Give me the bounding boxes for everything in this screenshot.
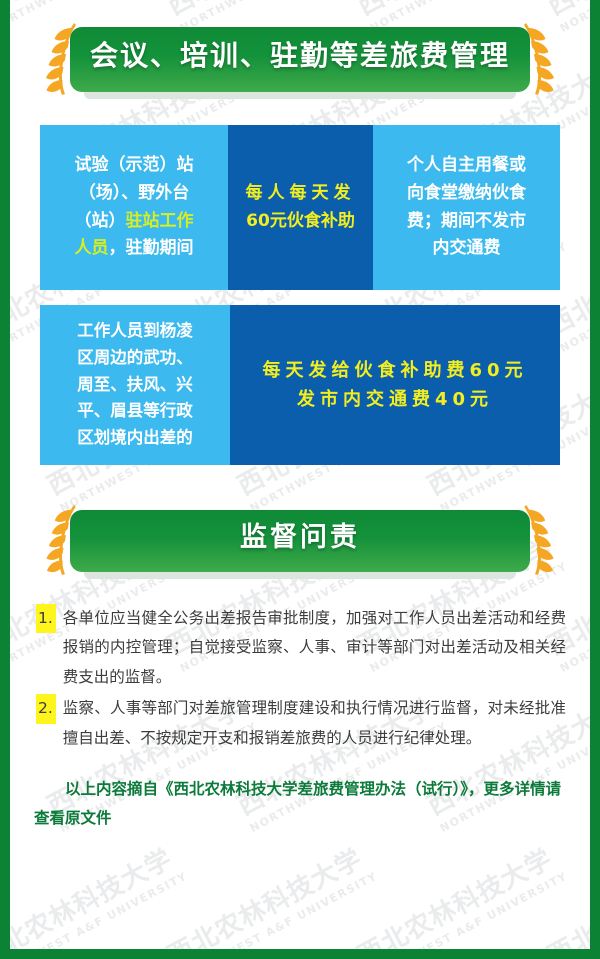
list-item-number: 1. — [36, 604, 56, 633]
watermark-text: 西北农林科技大学NORTHWEST A&F UNIVERSITY — [540, 836, 590, 949]
list-item: 1. 各单位应当健全公务出差报告审批制度，加强对工作人员出差活动和经费报销的内控… — [36, 604, 566, 692]
condition-line-4-highlight: 人员 — [75, 238, 109, 258]
wheat-stalk-icon-left — [44, 19, 86, 101]
allowance-table-two: 工作人员到杨凌 区周边的武功、 周至、扶风、兴 平、眉县等行政 区划境内出差的 … — [40, 305, 560, 465]
list-item-text: 各单位应当健全公务出差报告审批制度，加强对工作人员出差活动和经费报销的内控管理；… — [63, 604, 566, 692]
condition-line-3-prefix: （站） — [75, 211, 126, 231]
amount-line-1: 每人每天发 — [240, 180, 361, 208]
amount2-line-2: 发市内交通费40元 — [242, 385, 548, 414]
condition-line-4-suffix: ，驻勤期间 — [109, 238, 194, 258]
condition2-line-3: 周至、扶风、兴 — [52, 372, 218, 399]
amount2-line-1: 每天发给伙食补助费60元 — [242, 356, 548, 385]
note-line-1: 个人自主用餐或 — [385, 152, 548, 180]
note-line-2: 向食堂缴纳伙食 — [385, 180, 548, 208]
list-item-text: 监察、人事等部门对差旅管理制度建设和执行情况进行监督，对未经批准擅自出差、不按规… — [63, 694, 566, 753]
watermark-text: 西北农林科技大学NORTHWEST A&F UNIVERSITY — [160, 836, 380, 949]
table-two-amount-cell: 每天发给伙食补助费60元 发市内交通费40元 — [230, 305, 560, 465]
condition-line-4: 人员，驻勤期间 — [52, 235, 216, 263]
table-one-condition-cell: 试验（示范）站 （场）、野外台 （站）驻站工作 人员，驻勤期间 — [40, 125, 228, 290]
amount-line-2: 60元伙食补助 — [240, 208, 361, 236]
condition2-line-4: 平、眉县等行政 — [52, 398, 218, 425]
wheat-stalk-icon-left-2 — [44, 501, 86, 581]
allowance-table-one: 试验（示范）站 （场）、野外台 （站）驻站工作 人员，驻勤期间 每人每天发 60… — [40, 125, 560, 290]
banner-bar: 会议、培训、驻勤等差旅费管理 — [70, 27, 530, 92]
source-footnote: 以上内容摘自《西北农林科技大学差旅费管理办法（试行）》，更多详情请查看原文件 — [34, 775, 572, 832]
table-one-note-cell: 个人自主用餐或 向食堂缴纳伙食 费；期间不发市 内交通费 — [373, 125, 560, 290]
infographic-page: 西北农林科技大学NORTHWEST A&F UNIVERSITY西北农林科技大学… — [0, 0, 600, 959]
condition2-line-1: 工作人员到杨凌 — [52, 318, 218, 345]
watermark-text: 西北农林科技大学NORTHWEST A&F UNIVERSITY — [10, 836, 190, 949]
table-one-amount-cell: 每人每天发 60元伙食补助 — [228, 125, 373, 290]
wheat-stalk-icon-right-2 — [514, 501, 556, 581]
banner-title: 会议、培训、驻勤等差旅费管理 — [90, 39, 510, 72]
condition-line-3-highlight: 驻站工作 — [126, 211, 194, 231]
watermark-text: 西北农林科技大学NORTHWEST A&F UNIVERSITY — [350, 836, 570, 949]
note-line-4: 内交通费 — [385, 235, 548, 263]
wheat-stalk-icon-right — [514, 19, 556, 101]
condition2-line-2: 区周边的武功、 — [52, 345, 218, 372]
supervision-list: 1. 各单位应当健全公务出差报告审批制度，加强对工作人员出差活动和经费报销的内控… — [36, 604, 566, 753]
condition-line-3: （站）驻站工作 — [52, 208, 216, 236]
condition-line-2: （场）、野外台 — [52, 180, 216, 208]
condition-line-1: 试验（示范）站 — [52, 152, 216, 180]
travel-expense-banner: 会议、培训、驻勤等差旅费管理 — [70, 27, 530, 92]
banner-title-2: 监督问责 — [240, 522, 360, 553]
list-item-number: 2. — [36, 694, 56, 723]
note-line-3: 费；期间不发市 — [385, 208, 548, 236]
banner-bar-2: 监督问责 — [70, 510, 530, 572]
table-two-condition-cell: 工作人员到杨凌 区周边的武功、 周至、扶风、兴 平、眉县等行政 区划境内出差的 — [40, 305, 230, 465]
list-item: 2. 监察、人事等部门对差旅管理制度建设和执行情况进行监督，对未经批准擅自出差、… — [36, 694, 566, 753]
condition2-line-5: 区划境内出差的 — [52, 425, 218, 452]
supervision-banner: 监督问责 — [70, 510, 530, 572]
